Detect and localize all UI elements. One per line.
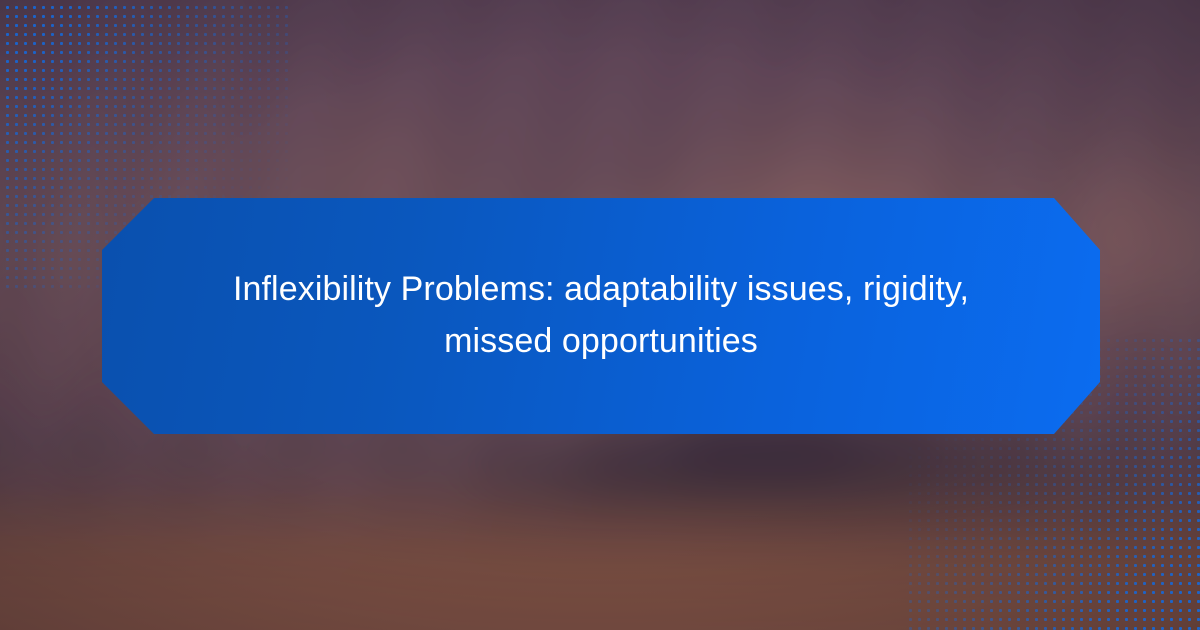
- title-banner: Inflexibility Problems: adaptability iss…: [102, 198, 1100, 434]
- page-title: Inflexibility Problems: adaptability iss…: [161, 264, 1041, 367]
- social-card: Inflexibility Problems: adaptability iss…: [0, 0, 1200, 630]
